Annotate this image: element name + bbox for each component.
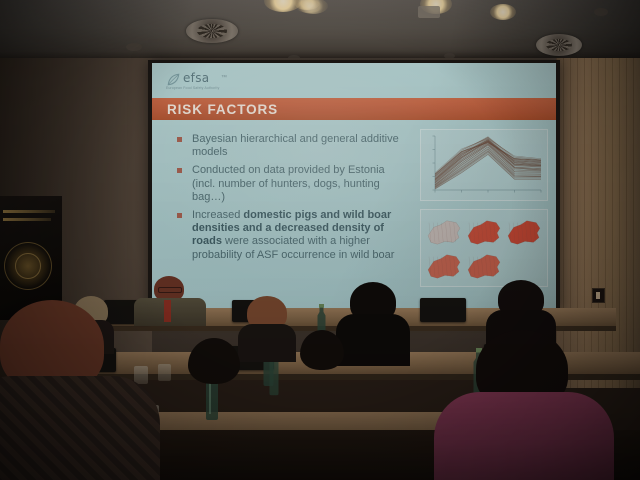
ceiling-projector-mount [418,6,440,18]
map-panel-3 [504,213,544,247]
ceiling-fixture [126,43,142,51]
bullet-text-segment: Increased [192,209,243,221]
ceiling-spotlight [490,4,516,20]
light-switch[interactable] [592,288,605,303]
attendee-body [336,314,410,366]
estonia-map-shape [504,217,544,247]
bullet-text-segment: Bayesian hierarchical and general additi… [192,133,399,158]
person-attendee-center-right [336,282,410,362]
attendee-body [238,324,296,362]
slide-bullet-1: Bayesian hierarchical and general additi… [174,133,406,159]
figure-map-grid [420,209,548,287]
efsa-wordmark: efsa [183,71,209,85]
estonia-map-shape [464,217,504,247]
map-panel-4 [424,247,464,281]
map-panel-1 [424,213,464,247]
presenter-glasses-icon [158,287,182,293]
map-panel-2 [464,213,504,247]
efsa-subtitle: European Food Safety Authority [166,86,219,90]
estonia-map-shape [424,217,464,247]
ceiling-fixture [594,8,608,16]
ceiling-spotlight [296,0,322,13]
efsa-logo: efsa ™ European Food Safety Authority [166,71,244,93]
slide-title: RISK FACTORS [167,102,278,117]
estonia-map-shape [464,251,504,281]
estonia-map-shape [424,251,464,281]
slide-title-bar: RISK FACTORS [152,98,556,120]
efsa-leaf-icon [166,72,181,87]
foreground-sweater [434,392,614,480]
bullet-marker-icon [177,137,182,142]
person-foreground-left [0,300,164,480]
presenter-tie [164,300,171,322]
bullet-text-segment: were associated with a higher probabilit… [192,235,394,260]
person-silhouette [300,330,344,370]
efsa-trademark: ™ [221,75,227,81]
slide-bullet-3: Increased domestic pigs and wild boar de… [174,209,406,262]
slide-bullet-list: Bayesian hierarchical and general additi… [174,133,406,267]
figure-line-chart [420,129,548,201]
laptop[interactable] [420,298,466,322]
projected-slide: efsa ™ European Food Safety Authority RI… [152,63,556,309]
banner-emblem-icon [4,242,52,290]
bullet-marker-icon [177,168,182,173]
conference-room-photo: efsa ™ European Food Safety Authority RI… [0,0,640,480]
map-panel-5 [464,247,504,281]
person-silhouette [188,338,240,384]
bullet-text-segment: Conducted on data provided by Estonia (i… [192,164,385,202]
banner-text-line [3,218,51,221]
ceiling-air-vent [186,19,238,43]
person-attendee-center [238,296,296,358]
spaghetti-plot [421,130,547,200]
slide-bullet-2: Conducted on data provided by Estonia (i… [174,164,406,204]
bullet-marker-icon [177,213,182,218]
person-foreground-magenta [424,330,624,480]
foreground-shirt [0,376,160,480]
banner-text-line [3,210,55,213]
ceiling-air-vent [536,34,582,56]
